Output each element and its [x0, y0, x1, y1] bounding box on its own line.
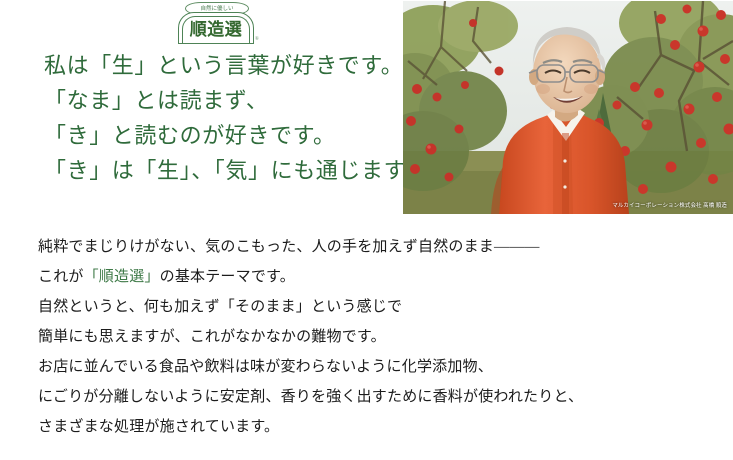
page-root: 自然に優しい 順造選 ® 私は「生」という言葉が好きです。 「なま」とは読まず、…: [0, 0, 733, 460]
headline-block: 私は「生」という言葉が好きです。 「なま」とは読まず、 「き」と読むのが好きです…: [44, 48, 394, 188]
body-line-5: お店に並んでいる食品や飲料は味が変わらないように化学添加物、: [38, 352, 708, 382]
headline-line-2: 「なま」とは読まず、: [44, 83, 394, 118]
body-line-3: 自然というと、何も加えず「そのまま」という感じで: [38, 292, 708, 322]
brand-inline-label: 「順造選」: [84, 269, 160, 285]
registered-trademark-icon: ®: [255, 37, 259, 42]
logo-frame: 順造選: [178, 12, 254, 44]
orchard-portrait-photo: マルカイコーポレーション株式会社 髙橋 順造: [403, 1, 733, 214]
body-line-7: さまざまな処理が施されています。: [38, 412, 708, 442]
body-line-2-prefix: これが: [38, 269, 84, 285]
body-line-2-suffix: の基本テーマです。: [160, 269, 295, 285]
headline-line-1: 私は「生」という言葉が好きです。: [44, 48, 394, 83]
photo-illustration: [403, 1, 733, 214]
body-line-1: 純粋でまじりけがない、気のこもった、人の手を加えず自然のまま———: [38, 232, 708, 262]
photo-credit: マルカイコーポレーション株式会社 髙橋 順造: [612, 203, 727, 210]
brand-logo: 自然に優しい 順造選 ®: [176, 1, 260, 47]
body-line-6: にごりが分離しないように安定剤、香りを強く出すために香料が使われたりと、: [38, 382, 708, 412]
body-line-4: 簡単にも思えますが、これがなかなかの難物です。: [38, 322, 708, 352]
logo-brand-label: 順造選: [190, 21, 243, 39]
body-line-2: これが「順造選」の基本テーマです。: [38, 262, 708, 292]
headline-line-3: 「き」と読むのが好きです。: [44, 118, 394, 153]
logo-banner-label: 自然に優しい: [200, 6, 233, 12]
body-copy-block: 純粋でまじりけがない、気のこもった、人の手を加えず自然のまま——— これが「順造…: [38, 232, 708, 442]
headline-line-4: 「き」は「生」、「気」にも通じます。: [44, 153, 394, 188]
